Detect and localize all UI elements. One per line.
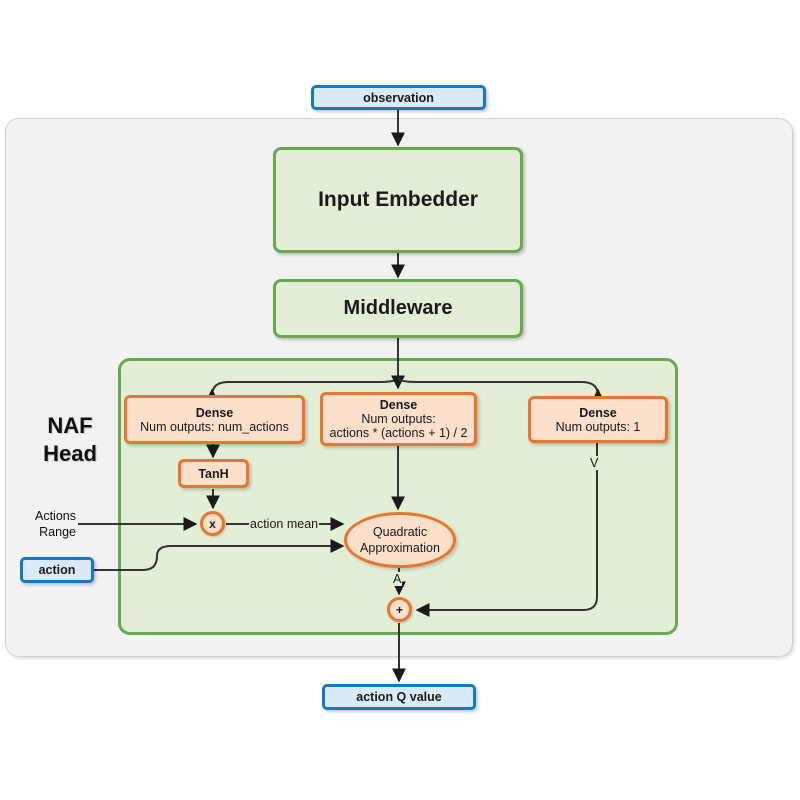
input-embedder-label: Input Embedder	[318, 188, 478, 212]
dense-matrix-title: Dense	[380, 398, 418, 412]
quadratic-approximation-line1: Quadratic	[373, 524, 427, 540]
value-label: V	[589, 456, 599, 470]
dense-value-sub: Num outputs: 1	[556, 420, 641, 434]
dense-num-actions-title: Dense	[196, 406, 234, 420]
dense-matrix-sub-line2: actions * (actions + 1) / 2	[330, 426, 468, 440]
observation-label: observation	[363, 91, 434, 105]
node-quadratic-approximation[interactable]: Quadratic Approximation	[344, 512, 456, 568]
node-action-input[interactable]: action	[20, 557, 94, 583]
node-observation[interactable]: observation	[311, 85, 486, 110]
advantage-label: A	[392, 572, 402, 586]
node-input-embedder[interactable]: Input Embedder	[273, 147, 523, 253]
actions-range-line1: Actions	[14, 508, 76, 524]
actions-range-line2: Range	[14, 524, 76, 540]
tanh-label: TanH	[198, 467, 228, 481]
node-tanh[interactable]: TanH	[178, 459, 249, 488]
actions-range-label: Actions Range	[14, 508, 76, 541]
dense-matrix-sub-line1: Num outputs:	[361, 412, 435, 426]
naf-head-title-line2: Head	[28, 440, 112, 468]
middleware-label: Middleware	[344, 297, 453, 320]
action-mean-label: action mean	[249, 517, 319, 531]
action-q-value-label: action Q value	[356, 690, 441, 704]
node-dense-matrix[interactable]: Dense Num outputs: actions * (actions + …	[320, 392, 477, 446]
naf-head-title: NAF Head	[28, 412, 112, 467]
multiply-operator[interactable]: x	[200, 511, 225, 536]
node-middleware[interactable]: Middleware	[273, 279, 523, 338]
node-dense-value[interactable]: Dense Num outputs: 1	[528, 396, 668, 443]
naf-head-title-line1: NAF	[28, 412, 112, 440]
add-operator[interactable]: +	[387, 597, 412, 622]
action-input-label: action	[39, 563, 76, 577]
dense-num-actions-sub: Num outputs: num_actions	[140, 420, 289, 434]
node-action-q-value[interactable]: action Q value	[322, 684, 476, 710]
node-dense-num-actions[interactable]: Dense Num outputs: num_actions	[124, 395, 305, 444]
dense-value-title: Dense	[579, 406, 617, 420]
multiply-operator-label: x	[209, 517, 216, 531]
add-operator-label: +	[396, 603, 403, 617]
quadratic-approximation-line2: Approximation	[360, 540, 440, 556]
diagram-canvas: observation Input Embedder Middleware NA…	[0, 0, 800, 800]
